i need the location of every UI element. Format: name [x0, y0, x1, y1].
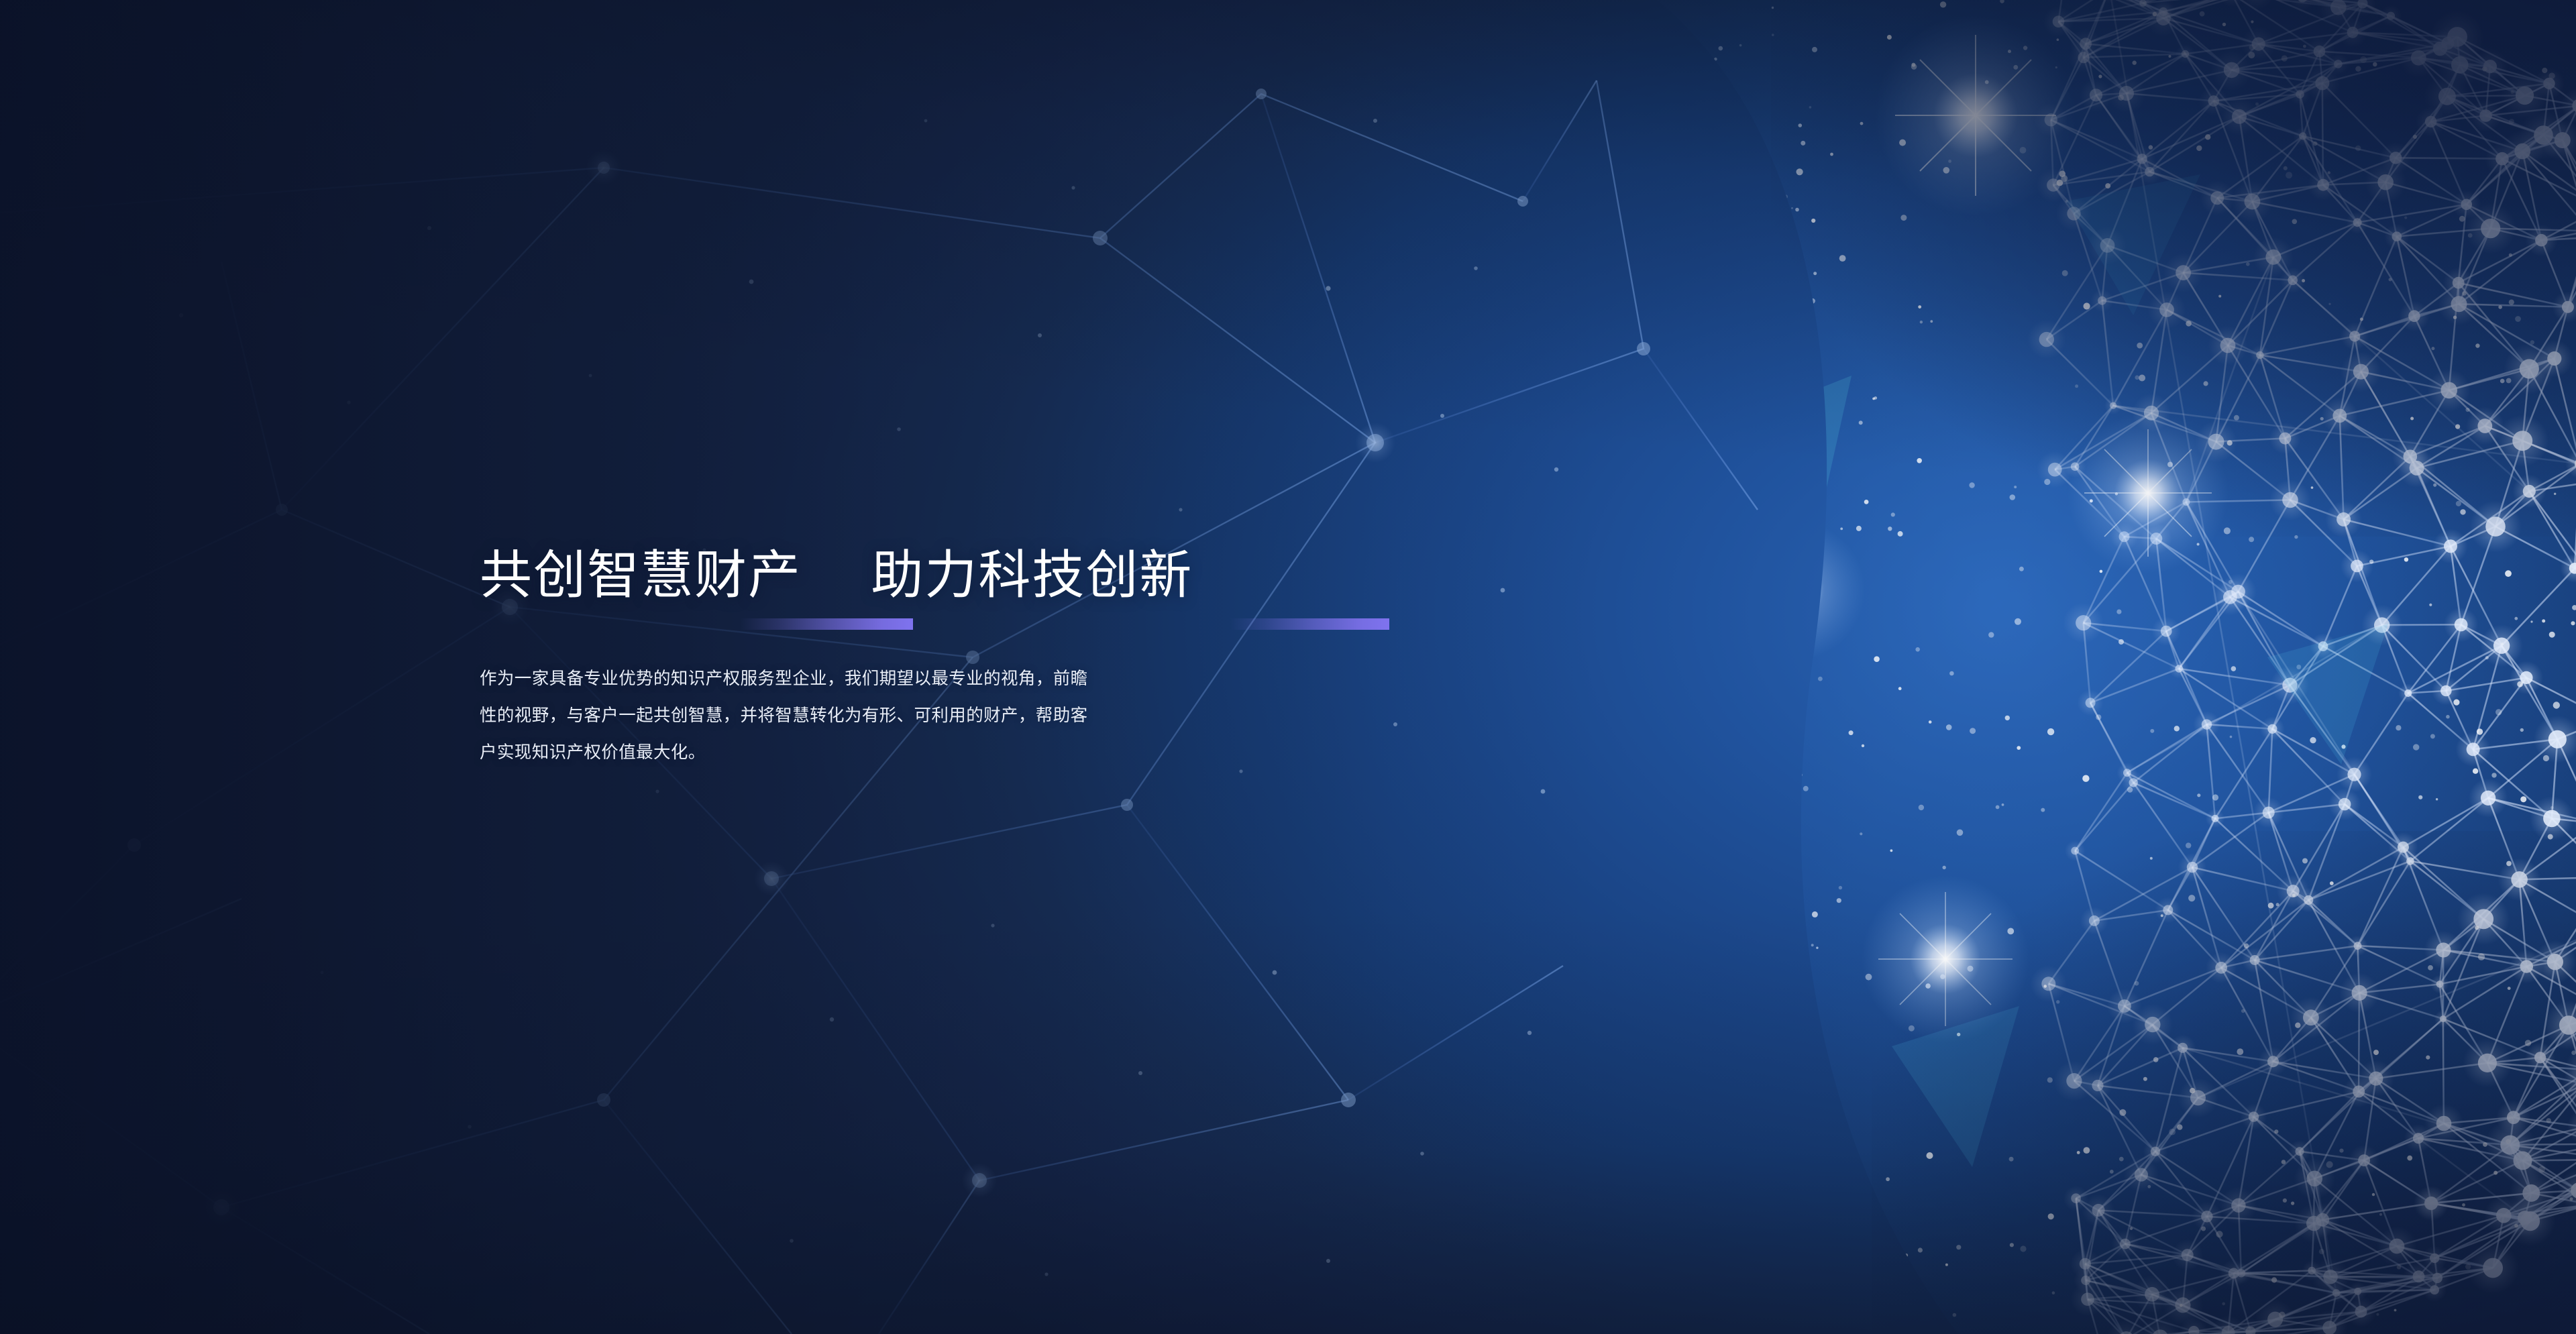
underline-bar-2 [1230, 618, 1389, 630]
top-right-shadow [1771, 0, 2576, 537]
page-title: 共创智慧财产 助力科技创新 [480, 549, 1419, 601]
hero-banner: 共创智慧财产 助力科技创新 作为一家具备专业优势的知识产权服务型企业，我们期望以… [0, 0, 2576, 1334]
headline-part-1: 共创智慧财产 [480, 545, 802, 604]
description-line-1: 作为一家具备专业优势的知识产权服务型企业，我们期望以最专业的视角，前瞻 [480, 661, 1385, 698]
description-line-3: 户实现知识产权价值最大化。 [480, 734, 1385, 771]
hero-text-block: 共创智慧财产 助力科技创新 作为一家具备专业优势的知识产权服务型企业，我们期望以… [480, 549, 1419, 771]
description-line-2: 性的视野，与客户一起共创智慧，并将智慧转化为有形、可利用的财产，帮助客 [480, 698, 1385, 734]
hero-description: 作为一家具备专业优势的知识产权服务型企业，我们期望以最专业的视角，前瞻 性的视野… [480, 661, 1385, 771]
underline-bar-1 [740, 618, 913, 630]
headline-underline-group [480, 618, 1419, 638]
bottom-right-shadow [1872, 831, 2576, 1334]
headline-part-2: 助力科技创新 [871, 545, 1193, 604]
